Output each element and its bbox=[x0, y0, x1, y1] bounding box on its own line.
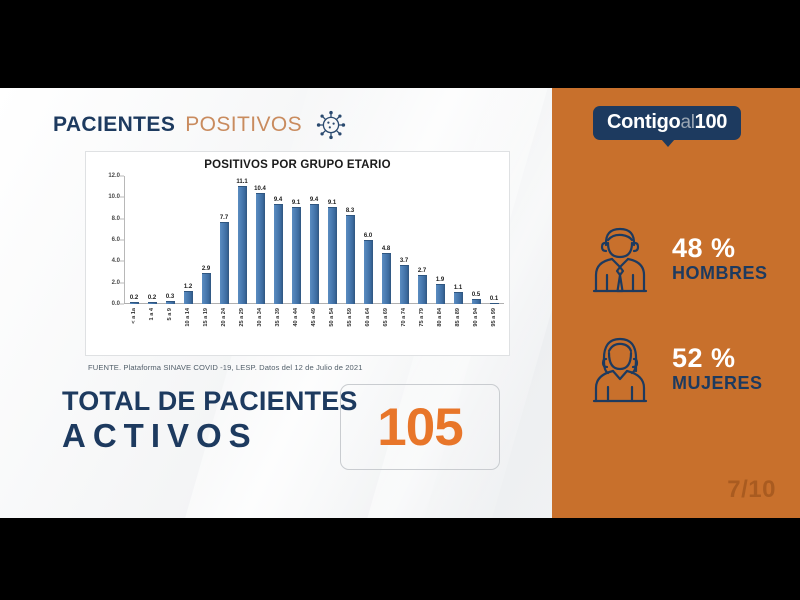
chart-x-tick-label: 10 a 14 bbox=[185, 308, 191, 327]
chart-x-label-slot: 65 a 69 bbox=[377, 306, 395, 356]
chart-x-label-slot: 75 a 79 bbox=[413, 306, 431, 356]
chart-x-label-slot: 80 a 84 bbox=[431, 306, 449, 356]
page-number: 7/10 bbox=[727, 476, 776, 504]
chart-bar bbox=[166, 301, 175, 304]
chart-bar bbox=[256, 193, 265, 304]
chart-x-tick-label: 95 a 99 bbox=[491, 308, 497, 327]
chart-bar-slot: 9.4 bbox=[305, 176, 323, 304]
chart-x-tick-label: 85 a 89 bbox=[455, 308, 461, 327]
logo-part-100: 100 bbox=[695, 111, 727, 134]
chart-bar-value-label: 1.1 bbox=[454, 285, 462, 291]
chart-bar bbox=[436, 284, 445, 304]
chart-x-tick-label: 20 a 24 bbox=[221, 308, 227, 327]
chart-bars: 0.20.20.31.22.97.711.110.49.49.19.49.18.… bbox=[125, 176, 503, 304]
chart-bar bbox=[220, 222, 229, 304]
chart-bar bbox=[472, 299, 481, 304]
chart-bar-slot: 0.3 bbox=[161, 176, 179, 304]
chart-bar-slot: 1.1 bbox=[449, 176, 467, 304]
chart-bar-slot: 2.9 bbox=[197, 176, 215, 304]
chart-x-label-slot: 70 a 74 bbox=[395, 306, 413, 356]
chart-bar-value-label: 8.3 bbox=[346, 208, 354, 214]
chart-bar-value-label: 6.0 bbox=[364, 233, 372, 239]
chart-bar bbox=[292, 207, 301, 304]
active-patients-count-box: 105 bbox=[340, 384, 500, 470]
chart-x-tick-label: 40 a 44 bbox=[293, 308, 299, 327]
contigo-al-100-logo: Contigo al 100 bbox=[593, 106, 741, 140]
chart-bar-slot: 10.4 bbox=[251, 176, 269, 304]
total-label-line1: TOTAL DE PACIENTES bbox=[62, 388, 358, 415]
chart-y-tick: 0.0 bbox=[112, 301, 120, 307]
hombres-percent: 48 % bbox=[672, 234, 768, 264]
chart-y-tick: 2.0 bbox=[112, 280, 120, 286]
chart-x-label-slot: 10 a 14 bbox=[179, 306, 197, 356]
chart-bar-slot: 1.9 bbox=[431, 176, 449, 304]
chart-y-tick-mark bbox=[120, 261, 124, 262]
chart-bar-value-label: 0.1 bbox=[490, 296, 498, 302]
chart-x-tick-label: 25 a 29 bbox=[239, 308, 245, 327]
chart-bar-value-label: 9.1 bbox=[292, 200, 300, 206]
chart-x-label-slot: 20 a 24 bbox=[215, 306, 233, 356]
chart-x-tick-label: 35 a 39 bbox=[275, 308, 281, 327]
chart-x-label-slot: 30 a 34 bbox=[251, 306, 269, 356]
total-label-line2: ACTIVOS bbox=[62, 418, 358, 454]
mujeres-percent: 52 % bbox=[672, 344, 763, 374]
woman-icon bbox=[584, 331, 656, 407]
chart-bar-slot: 1.2 bbox=[179, 176, 197, 304]
hombres-label: HOMBRES bbox=[672, 264, 768, 284]
chart-y-tick-mark bbox=[120, 218, 124, 219]
slide-right-panel: Contigo al 100 bbox=[552, 88, 800, 518]
logo-part-contigo: Contigo bbox=[607, 111, 680, 134]
chart-bar-value-label: 0.5 bbox=[472, 292, 480, 298]
chart-source-note: FUENTE. Plataforma SINAVE COVID -19, LES… bbox=[88, 363, 363, 372]
chart-x-tick-label: < a 1a bbox=[131, 308, 137, 324]
chart-y-axis: 0.02.04.06.08.010.012.0 bbox=[94, 176, 120, 304]
chart-bar-value-label: 0.3 bbox=[166, 294, 174, 300]
chart-bar-slot: 0.2 bbox=[143, 176, 161, 304]
chart-x-tick-label: 30 a 34 bbox=[257, 308, 263, 327]
chart-y-tick: 4.0 bbox=[112, 258, 120, 264]
chart-x-label-slot: 55 a 59 bbox=[341, 306, 359, 356]
chart-bar-value-label: 0.2 bbox=[130, 295, 138, 301]
chart-x-tick-label: 70 a 74 bbox=[401, 308, 407, 327]
chart-x-label-slot: 60 a 64 bbox=[359, 306, 377, 356]
chart-x-label-slot: 45 a 49 bbox=[305, 306, 323, 356]
man-icon bbox=[584, 221, 656, 297]
chart-title: POSITIVOS POR GRUPO ETARIO bbox=[86, 159, 509, 171]
chart-x-tick-label: 1 a 4 bbox=[149, 308, 155, 320]
chart-bar-slot: 2.7 bbox=[413, 176, 431, 304]
chart-y-tick: 8.0 bbox=[112, 216, 120, 222]
chart-x-label-slot: 95 a 99 bbox=[485, 306, 503, 356]
chart-x-tick-label: 75 a 79 bbox=[419, 308, 425, 327]
chart-y-tick-mark bbox=[120, 304, 124, 305]
chart-bar-slot: 7.7 bbox=[215, 176, 233, 304]
chart-bar bbox=[400, 265, 409, 304]
chart-bar bbox=[328, 207, 337, 304]
chart-x-axis-labels: < a 1a1 a 45 a 910 a 1415 a 1920 a 2425 … bbox=[125, 306, 503, 356]
chart-bar-value-label: 2.9 bbox=[202, 266, 210, 272]
mujeres-label: MUJERES bbox=[672, 374, 763, 394]
chart-x-label-slot: 1 a 4 bbox=[143, 306, 161, 356]
chart-x-label-slot: 35 a 39 bbox=[269, 306, 287, 356]
chart-x-label-slot: < a 1a bbox=[125, 306, 143, 356]
chart-bar-value-label: 3.7 bbox=[400, 258, 408, 264]
chart-y-tick-mark bbox=[120, 240, 124, 241]
chart-plot-area: 0.02.04.06.08.010.012.0 0.20.20.31.22.97… bbox=[86, 176, 511, 356]
chart-bar bbox=[418, 275, 427, 304]
chart-bar bbox=[490, 303, 499, 305]
total-patients-block: TOTAL DE PACIENTES ACTIVOS bbox=[62, 388, 358, 454]
chart-bar-value-label: 1.2 bbox=[184, 284, 192, 290]
chart-x-label-slot: 15 a 19 bbox=[197, 306, 215, 356]
slide-header: PACIENTES POSITIVOS bbox=[53, 110, 346, 140]
chart-x-tick-label: 50 a 54 bbox=[329, 308, 335, 327]
chart-bar-value-label: 4.8 bbox=[382, 246, 390, 252]
chart-bar-value-label: 9.4 bbox=[274, 197, 282, 203]
chart-bar-value-label: 1.9 bbox=[436, 277, 444, 283]
active-patients-count: 105 bbox=[377, 401, 462, 454]
chart-x-label-slot: 5 a 9 bbox=[161, 306, 179, 356]
presentation-slide: PACIENTES POSITIVOS bbox=[0, 88, 800, 518]
screenshot-stage: PACIENTES POSITIVOS bbox=[0, 0, 800, 600]
chart-bar-slot: 6.0 bbox=[359, 176, 377, 304]
chart-y-tick: 6.0 bbox=[112, 237, 120, 243]
chart-x-tick-label: 90 a 94 bbox=[473, 308, 479, 327]
chart-x-label-slot: 40 a 44 bbox=[287, 306, 305, 356]
chart-x-tick-label: 65 a 69 bbox=[383, 308, 389, 327]
stat-row-mujeres: 52 % MUJERES bbox=[584, 331, 763, 407]
chart-bar bbox=[382, 253, 391, 304]
chart-x-label-slot: 50 a 54 bbox=[323, 306, 341, 356]
chart-x-tick-label: 5 a 9 bbox=[167, 308, 173, 320]
chart-x-label-slot: 85 a 89 bbox=[449, 306, 467, 356]
chart-bar bbox=[130, 302, 139, 304]
stat-text-hombres: 48 % HOMBRES bbox=[672, 234, 768, 283]
chart-bar-value-label: 9.1 bbox=[328, 200, 336, 206]
stat-row-hombres: 48 % HOMBRES bbox=[584, 221, 768, 297]
chart-x-tick-label: 55 a 59 bbox=[347, 308, 353, 327]
chart-bar bbox=[346, 215, 355, 304]
chart-bar bbox=[364, 240, 373, 304]
chart-bar-value-label: 0.2 bbox=[148, 295, 156, 301]
chart-bar-value-label: 10.4 bbox=[254, 186, 266, 192]
chart-y-tick-mark bbox=[120, 197, 124, 198]
chart-bar-slot: 11.1 bbox=[233, 176, 251, 304]
chart-bar-slot: 8.3 bbox=[341, 176, 359, 304]
chart-bar bbox=[454, 292, 463, 304]
chart-bar-slot: 4.8 bbox=[377, 176, 395, 304]
chart-bar-slot: 9.1 bbox=[323, 176, 341, 304]
chart-bar-value-label: 11.1 bbox=[236, 179, 247, 185]
chart-x-tick-label: 45 a 49 bbox=[311, 308, 317, 327]
virus-icon bbox=[316, 110, 346, 140]
chart-bar-slot: 9.1 bbox=[287, 176, 305, 304]
chart-x-tick-label: 15 a 19 bbox=[203, 308, 209, 327]
chart-bar-value-label: 2.7 bbox=[418, 268, 426, 274]
chart-bar-slot: 9.4 bbox=[269, 176, 287, 304]
chart-bar bbox=[202, 273, 211, 304]
chart-y-tick-mark bbox=[120, 176, 124, 177]
chart-bar-slot: 0.5 bbox=[467, 176, 485, 304]
logo-part-al: al bbox=[680, 112, 694, 134]
chart-bar bbox=[310, 204, 319, 304]
chart-bar-value-label: 7.7 bbox=[220, 215, 228, 221]
chart-y-tick: 10.0 bbox=[108, 194, 120, 200]
chart-y-tick-mark bbox=[120, 282, 124, 283]
chart-x-tick-label: 60 a 64 bbox=[365, 308, 371, 327]
header-title-light: POSITIVOS bbox=[185, 113, 302, 137]
chart-y-tick: 12.0 bbox=[108, 173, 120, 179]
slide-left-column: PACIENTES POSITIVOS bbox=[0, 88, 552, 518]
chart-bar bbox=[148, 302, 157, 304]
header-title-bold: PACIENTES bbox=[53, 113, 175, 137]
chart-card: POSITIVOS POR GRUPO ETARIO 0.02.04.06.08… bbox=[85, 151, 510, 356]
chart-x-label-slot: 90 a 94 bbox=[467, 306, 485, 356]
chart-bar bbox=[274, 204, 283, 304]
chart-bar bbox=[184, 291, 193, 304]
chart-x-tick-label: 80 a 84 bbox=[437, 308, 443, 327]
chart-bar-slot: 0.1 bbox=[485, 176, 503, 304]
chart-bar-slot: 0.2 bbox=[125, 176, 143, 304]
chart-bar bbox=[238, 186, 247, 304]
stat-text-mujeres: 52 % MUJERES bbox=[672, 344, 763, 393]
chart-x-label-slot: 25 a 29 bbox=[233, 306, 251, 356]
chart-bar-value-label: 9.4 bbox=[310, 197, 318, 203]
chart-bar-slot: 3.7 bbox=[395, 176, 413, 304]
